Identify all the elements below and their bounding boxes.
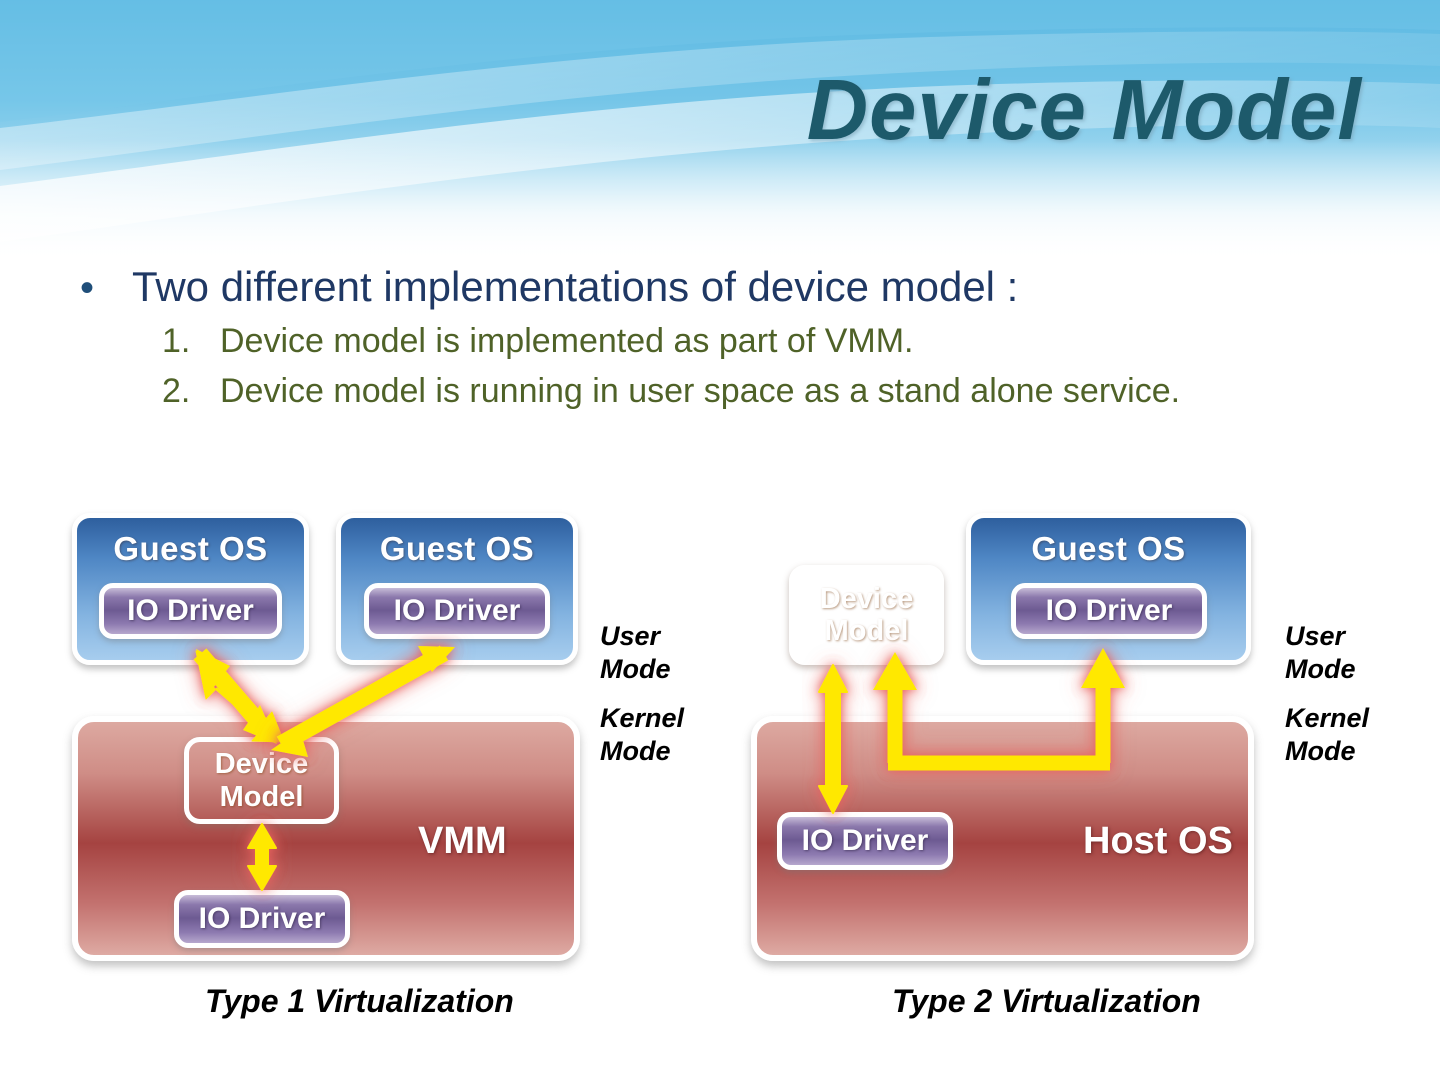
- numbered-marker-1: 1.: [162, 322, 220, 361]
- type2-user-mode-label: User Mode: [1285, 620, 1356, 686]
- type1-guest-os-label-1: Guest OS: [113, 530, 267, 568]
- numbered-item-1: 1. Device model is implemented as part o…: [162, 320, 1400, 363]
- type1-vmm-io-driver: IO Driver: [174, 890, 350, 948]
- type1-device-model-line1: Device: [215, 748, 309, 780]
- slide-canvas: Device Model • Two different implementat…: [0, 0, 1440, 1080]
- page-title: Device Model: [807, 62, 1362, 160]
- type2-device-model-line2: Model: [825, 615, 909, 647]
- type2-guest-os-box: Guest OS IO Driver: [966, 513, 1251, 665]
- type1-kernel-mode-line2: Mode: [600, 735, 684, 768]
- type1-user-mode-line1: User: [600, 620, 671, 653]
- type2-caption: Type 2 Virtualization: [892, 983, 1201, 1020]
- type2-kernel-mode-label: Kernel Mode: [1285, 702, 1369, 768]
- type1-kernel-mode-label: Kernel Mode: [600, 702, 684, 768]
- type1-user-mode-label: User Mode: [600, 620, 671, 686]
- type1-guest-os-box-1: Guest OS IO Driver: [72, 513, 309, 665]
- numbered-text-1: Device model is implemented as part of V…: [220, 320, 913, 363]
- type2-kernel-mode-line2: Mode: [1285, 735, 1369, 768]
- numbered-marker-2: 2.: [162, 372, 220, 411]
- bullet-marker-icon: •: [80, 268, 132, 308]
- type2-user-mode-line1: User: [1285, 620, 1356, 653]
- type1-device-model-line2: Model: [220, 781, 304, 813]
- type2-device-model-box: Device Model: [789, 565, 944, 665]
- type1-guest-os-label-2: Guest OS: [380, 530, 534, 568]
- type1-io-driver-2: IO Driver: [364, 583, 550, 639]
- type2-guest-io-driver: IO Driver: [1011, 583, 1207, 639]
- numbered-text-2: Device model is running in user space as…: [220, 370, 1180, 413]
- numbered-item-2: 2. Device model is running in user space…: [162, 370, 1400, 413]
- type2-guest-os-label: Guest OS: [1031, 530, 1185, 568]
- type1-kernel-mode-line1: Kernel: [600, 702, 684, 735]
- type2-device-model-line1: Device: [820, 583, 914, 615]
- bullet-item-main: • Two different implementations of devic…: [80, 262, 1400, 312]
- type1-guest-os-box-2: Guest OS IO Driver: [336, 513, 578, 665]
- body-text-block: • Two different implementations of devic…: [80, 262, 1400, 413]
- type2-host-io-driver: IO Driver: [777, 812, 953, 870]
- type1-user-mode-line2: Mode: [600, 653, 671, 686]
- type2-kernel-mode-line1: Kernel: [1285, 702, 1369, 735]
- type1-caption: Type 1 Virtualization: [205, 983, 514, 1020]
- type2-host-os-label: Host OS: [1083, 820, 1233, 863]
- type2-user-mode-line2: Mode: [1285, 653, 1356, 686]
- type1-io-driver-1: IO Driver: [99, 583, 282, 639]
- type1-device-model-box: Device Model: [184, 737, 339, 824]
- bullet-main-text: Two different implementations of device …: [132, 262, 1018, 312]
- type1-vmm-label: VMM: [418, 820, 507, 863]
